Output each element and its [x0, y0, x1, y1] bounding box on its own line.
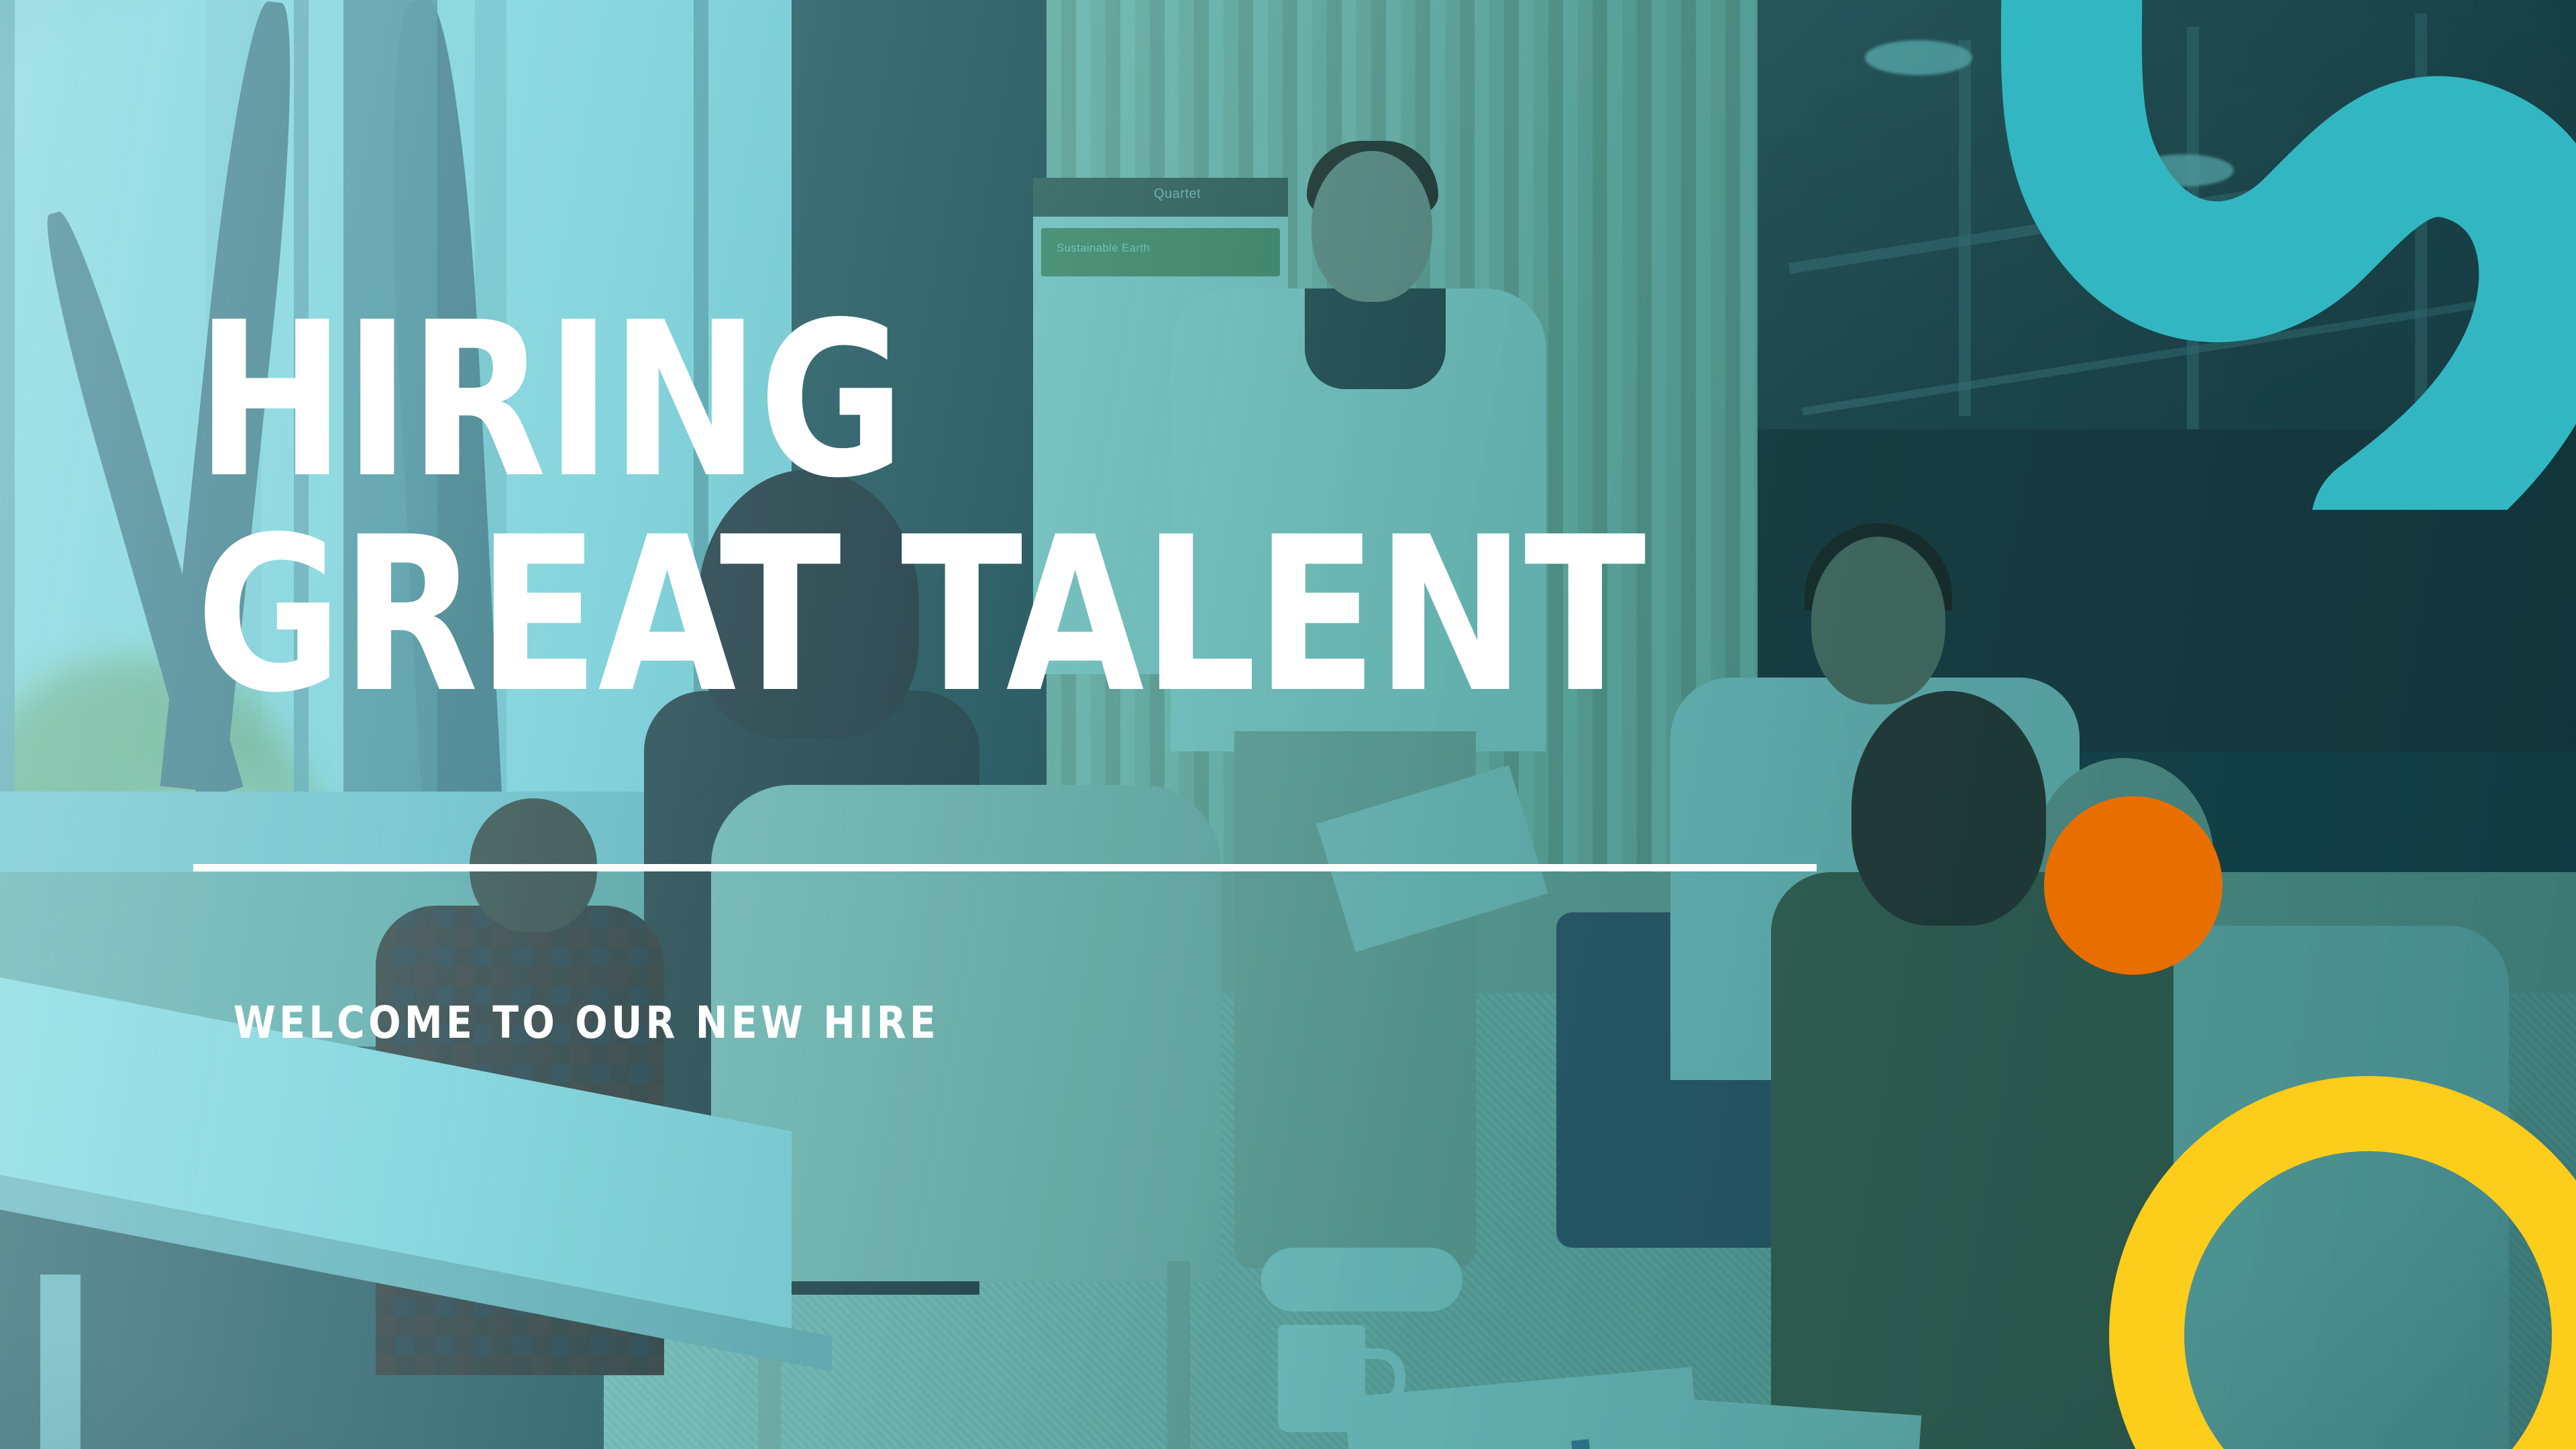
copy-block: HIRING GREAT TALENT WELCOME TO OUR NEW H…	[0, 0, 2576, 1449]
headline-line-1: HIRING	[196, 315, 904, 486]
sub-headline: WELCOME TO OUR NEW HIRE	[233, 997, 939, 1049]
headline-line-2: GREAT TALENT	[196, 530, 1645, 700]
hiring-poster: Quartet Sustainable Earth	[0, 0, 2576, 1449]
divider-rule	[193, 864, 1817, 871]
